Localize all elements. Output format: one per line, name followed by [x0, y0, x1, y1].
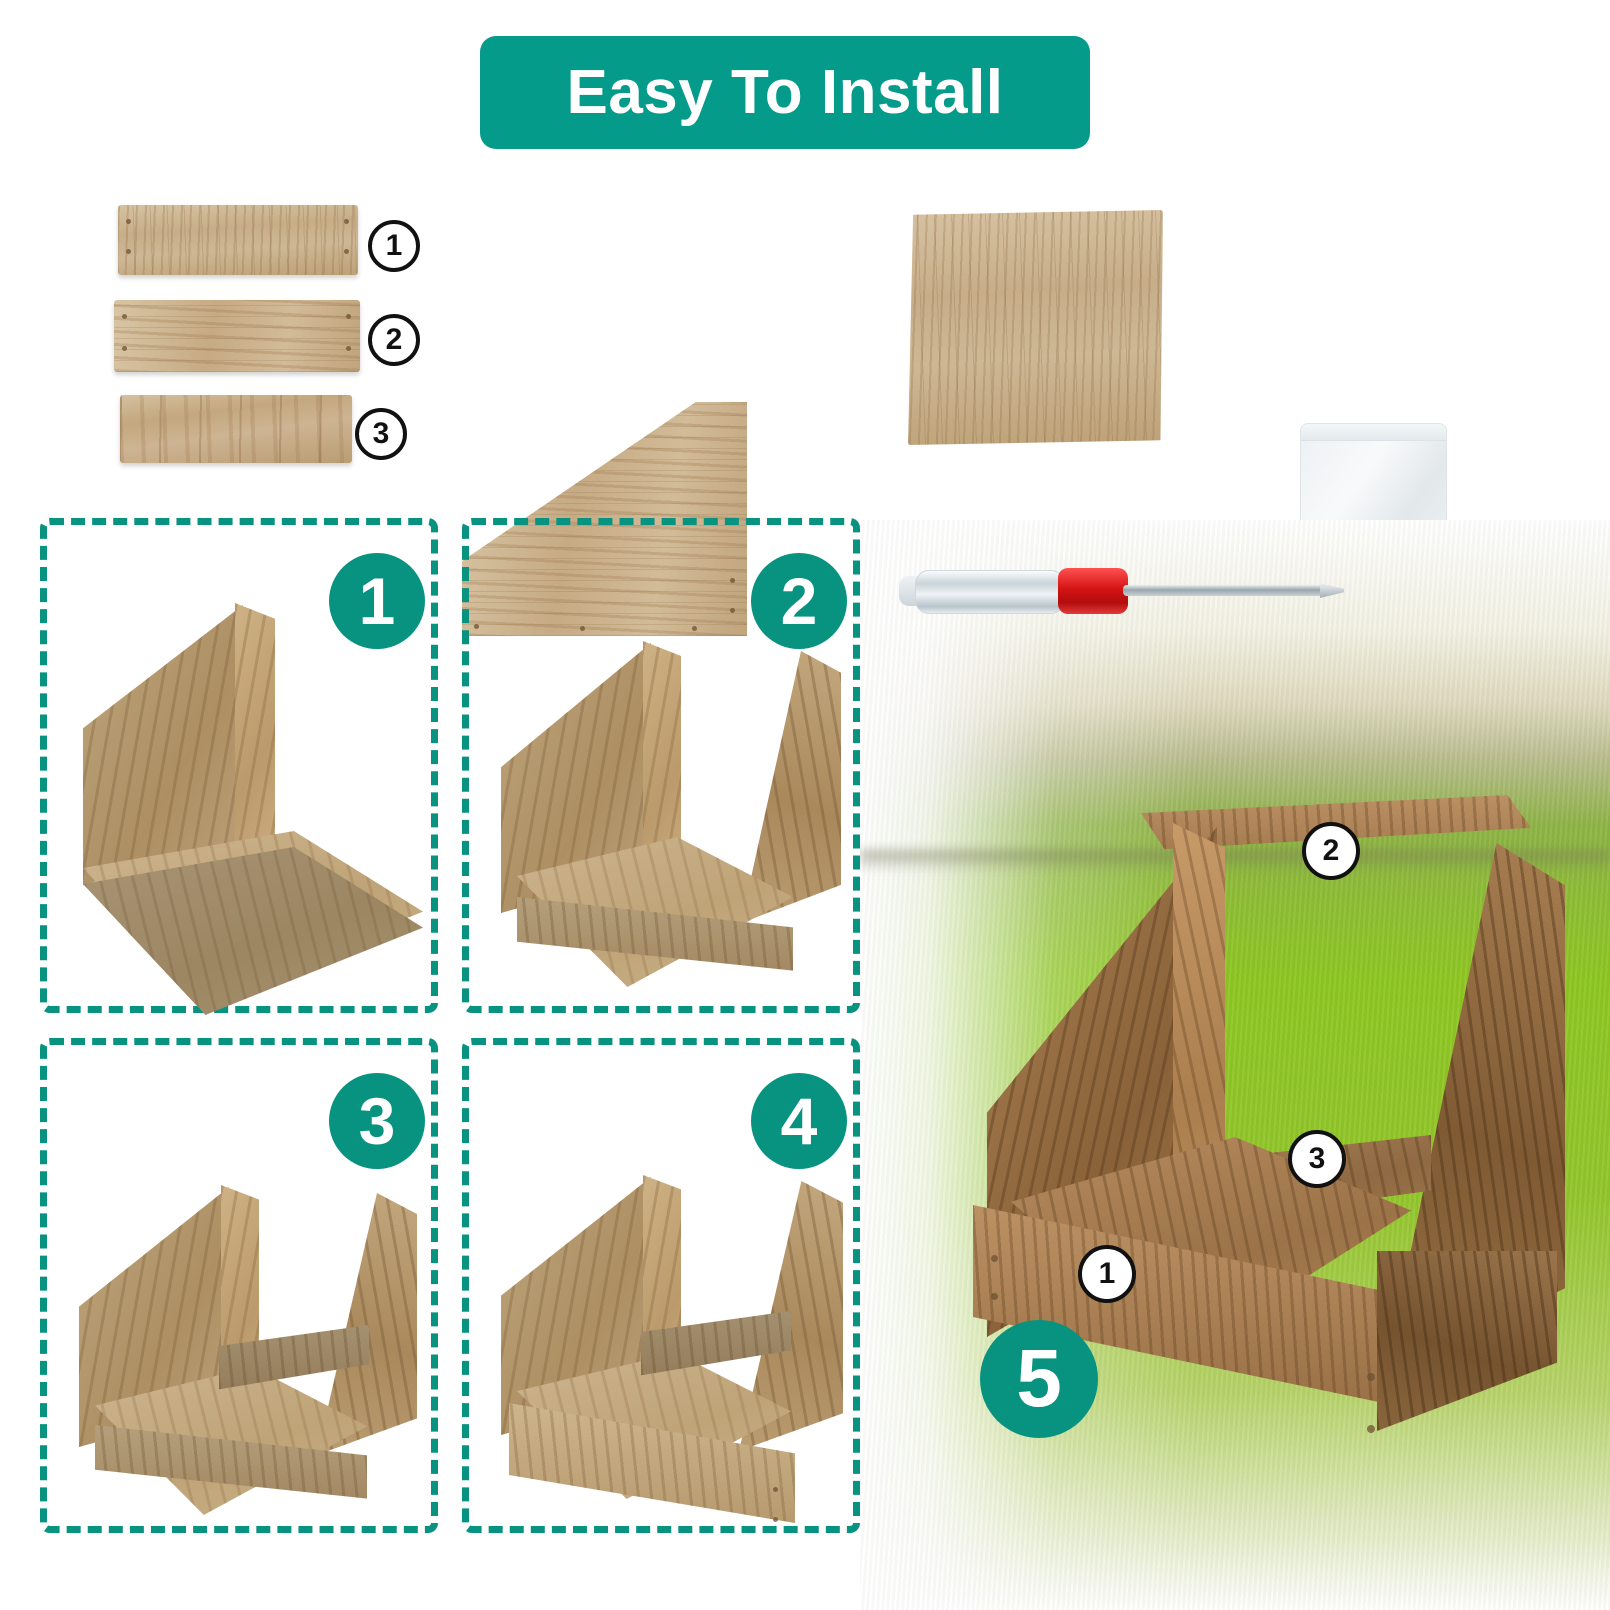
page-title-banner: Easy To Install — [480, 36, 1090, 149]
step-1-illustration — [65, 595, 435, 995]
screwdriver-collar — [1058, 568, 1128, 614]
screwdriver-handle — [915, 570, 1065, 614]
step-box-4[interactable]: 4 — [462, 1038, 860, 1533]
parts-list: 1 2 3 4 x2 5 — [0, 180, 1610, 490]
screwdriver-icon — [915, 552, 1335, 626]
part-number-1: 1 — [368, 220, 420, 272]
part-number-3: 3 — [355, 408, 407, 460]
step-number-4: 4 — [751, 1073, 847, 1169]
step-box-3[interactable]: 3 — [40, 1038, 438, 1533]
callout-2: 2 — [1302, 822, 1360, 880]
part-board-5 — [908, 210, 1163, 445]
callout-1: 1 — [1078, 1245, 1136, 1303]
assembled-right-lower-side — [1377, 1251, 1557, 1431]
part-board-2 — [114, 300, 360, 372]
step-number-3: 3 — [329, 1073, 425, 1169]
step-2-illustration — [491, 625, 851, 995]
step-4-illustration — [491, 1165, 851, 1535]
part-number-2: 2 — [368, 314, 420, 366]
step-box-1[interactable]: 1 — [40, 518, 438, 1013]
finished-product-panel: 2 3 1 — [860, 520, 1610, 1610]
assembly-steps: 1 2 3 — [40, 518, 860, 1568]
screwdriver-shaft — [1123, 585, 1328, 596]
final-step-number: 5 — [980, 1320, 1098, 1438]
callout-3: 3 — [1288, 1130, 1346, 1188]
part-board-3 — [120, 395, 352, 463]
step-3-illustration — [69, 1175, 429, 1525]
part-board-1 — [118, 205, 358, 275]
page-title: Easy To Install — [566, 62, 1003, 124]
step-box-2[interactable]: 2 — [462, 518, 860, 1013]
